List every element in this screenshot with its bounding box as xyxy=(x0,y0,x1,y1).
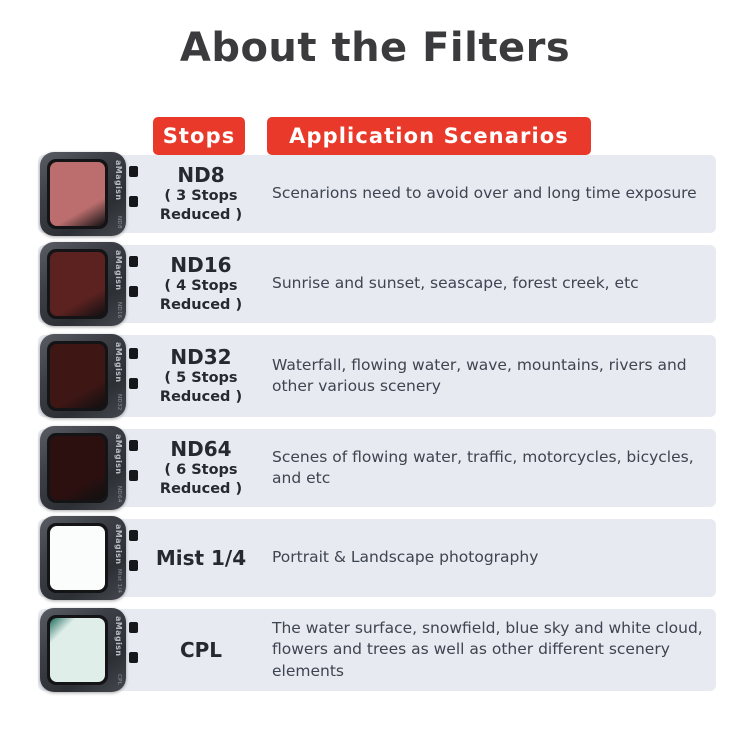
filter-model-label: CPL xyxy=(116,674,122,685)
table-row: aMagisnCPLCPLThe water surface, snowfiel… xyxy=(0,609,750,691)
filter-glass xyxy=(50,618,105,682)
filter-stops-line1: ( 6 Stops xyxy=(164,461,237,479)
filter-name: ND8 xyxy=(177,164,224,187)
filter-stops-line1: ( 4 Stops xyxy=(164,277,237,295)
brand-label: aMagisn xyxy=(114,616,123,656)
filter-glass-frame xyxy=(47,249,108,319)
filter-tab-icon xyxy=(129,378,138,389)
filter-thumbnail: aMagisnCPL xyxy=(40,608,126,692)
header-chip-stops: Stops xyxy=(153,117,245,155)
stops-cell: Mist 1/4 xyxy=(140,519,262,597)
filter-glass xyxy=(50,344,105,408)
scenario-cell: Scenarions need to avoid over and long t… xyxy=(272,155,716,233)
filter-tab-icon xyxy=(129,166,138,177)
scenario-text: Sunrise and sunset, seascape, forest cre… xyxy=(272,273,639,294)
table-row: aMagisnND32ND32( 5 StopsReduced )Waterfa… xyxy=(0,335,750,417)
stops-cell: CPL xyxy=(140,609,262,691)
filter-thumbnail: aMagisnMist 1/4 xyxy=(40,516,126,600)
filter-name: ND64 xyxy=(170,438,231,461)
filter-glass-frame xyxy=(47,159,108,229)
filter-glass-frame xyxy=(47,433,108,503)
scenario-text: Portrait & Landscape photography xyxy=(272,547,538,568)
table-row: aMagisnND8ND8( 3 StopsReduced )Scenarion… xyxy=(0,155,750,233)
table-row: aMagisnND64ND64( 6 StopsReduced )Scenes … xyxy=(0,429,750,507)
table-row: aMagisnND16ND16( 4 StopsReduced )Sunrise… xyxy=(0,245,750,323)
filter-tab-icon xyxy=(129,530,138,541)
stops-cell: ND32( 5 StopsReduced ) xyxy=(140,335,262,417)
table-row: aMagisnMist 1/4Mist 1/4Portrait & Landsc… xyxy=(0,519,750,597)
filter-glass xyxy=(50,162,105,226)
filter-tab-icon xyxy=(129,560,138,571)
stops-cell: ND64( 6 StopsReduced ) xyxy=(140,429,262,507)
filter-model-label: ND32 xyxy=(116,394,122,411)
filter-tab-icon xyxy=(129,440,138,451)
filter-name: ND32 xyxy=(170,346,231,369)
filter-tab-icon xyxy=(129,622,138,633)
filter-stops-line2: Reduced ) xyxy=(160,388,242,406)
scenario-text: Scenes of flowing water, traffic, motorc… xyxy=(272,447,716,490)
page-title: About the Filters xyxy=(0,0,750,70)
scenario-cell: The water surface, snowfield, blue sky a… xyxy=(272,609,716,691)
filter-glass-frame xyxy=(47,523,108,593)
brand-label: aMagisn xyxy=(114,342,123,382)
filter-model-label: ND8 xyxy=(116,216,122,229)
filter-stops-line2: Reduced ) xyxy=(160,296,242,314)
filter-stops-line1: ( 5 Stops xyxy=(164,369,237,387)
filter-tab-icon xyxy=(129,348,138,359)
filters-table: aMagisnND8ND8( 3 StopsReduced )Scenarion… xyxy=(0,155,750,703)
scenario-text: Scenarions need to avoid over and long t… xyxy=(272,183,697,204)
filter-thumbnail: aMagisnND8 xyxy=(40,152,126,236)
stops-cell: ND8( 3 StopsReduced ) xyxy=(140,155,262,233)
filter-tab-icon xyxy=(129,286,138,297)
filter-thumbnail: aMagisnND16 xyxy=(40,242,126,326)
scenario-cell: Sunrise and sunset, seascape, forest cre… xyxy=(272,245,716,323)
filter-stops-line1: ( 3 Stops xyxy=(164,187,237,205)
filter-model-label: Mist 1/4 xyxy=(116,569,122,593)
scenario-text: Waterfall, flowing water, wave, mountain… xyxy=(272,355,716,398)
filter-glass-frame xyxy=(47,615,108,685)
header-chip-application-scenarios: Application Scenarios xyxy=(267,117,591,155)
filter-name: CPL xyxy=(180,639,222,662)
filter-glass xyxy=(50,252,105,316)
filter-stops-line2: Reduced ) xyxy=(160,480,242,498)
filter-glass xyxy=(50,436,105,500)
filter-thumbnail: aMagisnND64 xyxy=(40,426,126,510)
filter-model-label: ND16 xyxy=(116,302,122,319)
filter-glass xyxy=(50,526,105,590)
filter-tab-icon xyxy=(129,256,138,267)
brand-label: aMagisn xyxy=(114,160,123,200)
filter-model-label: ND64 xyxy=(116,486,122,503)
scenario-cell: Portrait & Landscape photography xyxy=(272,519,716,597)
scenario-text: The water surface, snowfield, blue sky a… xyxy=(272,618,716,682)
scenario-cell: Waterfall, flowing water, wave, mountain… xyxy=(272,335,716,417)
filter-glass-frame xyxy=(47,341,108,411)
filter-stops-line2: Reduced ) xyxy=(160,206,242,224)
filter-thumbnail: aMagisnND32 xyxy=(40,334,126,418)
filter-tab-icon xyxy=(129,652,138,663)
stops-cell: ND16( 4 StopsReduced ) xyxy=(140,245,262,323)
scenario-cell: Scenes of flowing water, traffic, motorc… xyxy=(272,429,716,507)
table-header: Stops Application Scenarios xyxy=(0,117,750,155)
filter-name: ND16 xyxy=(170,254,231,277)
brand-label: aMagisn xyxy=(114,434,123,474)
filter-tab-icon xyxy=(129,196,138,207)
brand-label: aMagisn xyxy=(114,250,123,290)
filter-tab-icon xyxy=(129,470,138,481)
filter-name: Mist 1/4 xyxy=(156,547,246,570)
brand-label: aMagisn xyxy=(114,524,123,564)
